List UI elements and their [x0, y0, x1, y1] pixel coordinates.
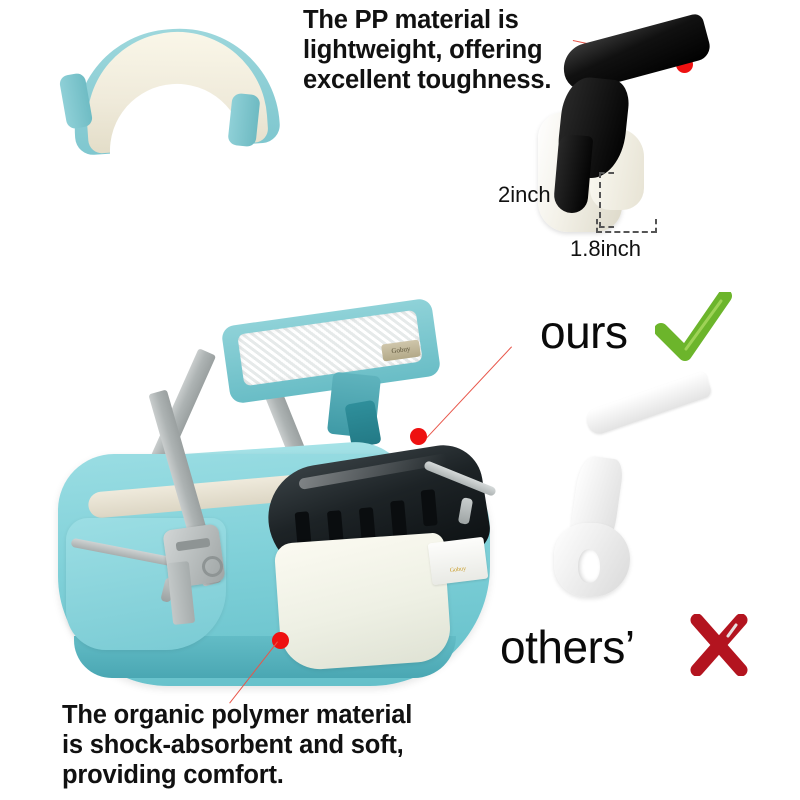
product-hook-white — [552, 405, 722, 600]
polymer-cushion-pad — [274, 532, 453, 672]
shoulder-pad-clip-right — [227, 93, 260, 148]
dimension-label-width: 1.8inch — [570, 236, 641, 262]
x-mark-icon — [688, 614, 750, 676]
dimension-label-height: 2inch — [498, 182, 551, 208]
shoulder-strap-left — [70, 117, 116, 447]
callout-dot-polymer — [272, 632, 289, 649]
hook-arm — [584, 371, 713, 437]
product-tag — [428, 537, 489, 586]
others-label: others’ — [500, 620, 635, 674]
dimension-bracket-width — [596, 219, 657, 233]
bottom-caption-text: The organic polymer material is shock-ab… — [62, 700, 412, 790]
ours-label: ours — [540, 305, 627, 359]
hook-inner-hole — [578, 549, 600, 583]
check-icon — [655, 292, 733, 364]
product-baby-hip-seat-carrier: Gobuy Gobuy — [30, 22, 500, 682]
product-clip-black — [548, 40, 718, 240]
waist-buckle-ring — [202, 556, 223, 577]
infographic-canvas: The PP material is lightweight, offering… — [0, 0, 800, 800]
